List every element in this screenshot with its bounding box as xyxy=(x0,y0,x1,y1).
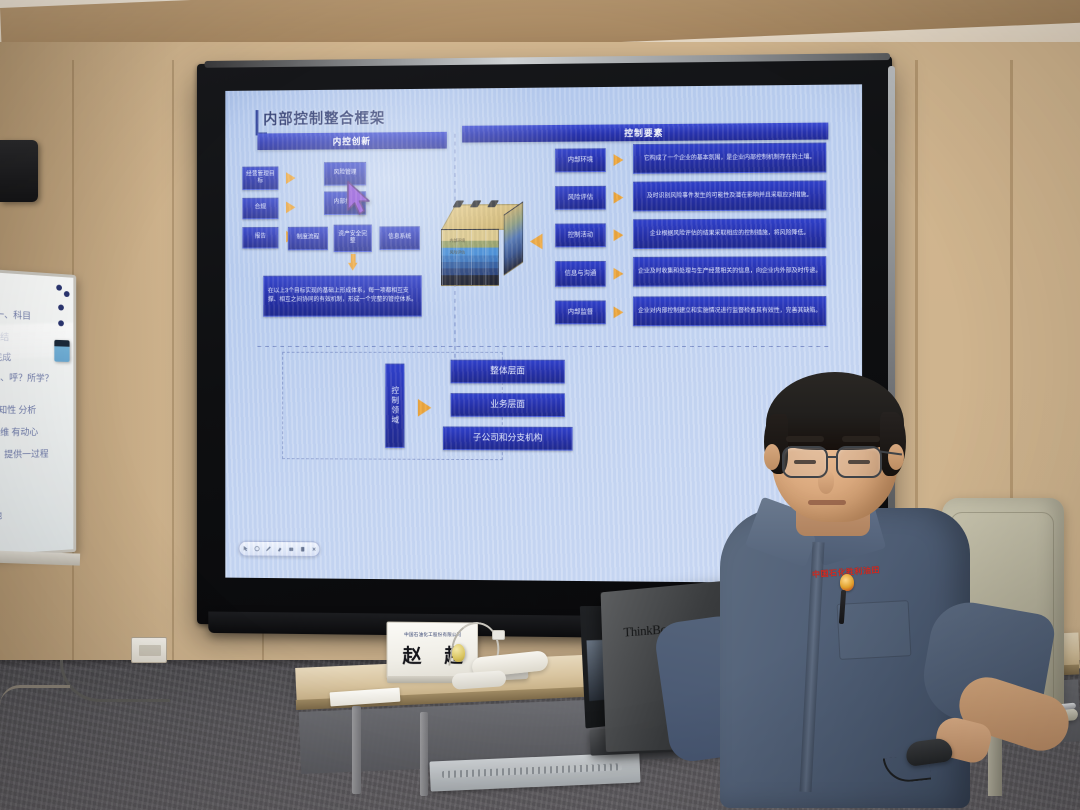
whiteboard-magnet xyxy=(58,304,64,310)
element-description: 企业根据风险评估的结果采取相应的控制措施，将风险降低。 xyxy=(633,218,826,249)
uniform-pocket xyxy=(837,600,912,660)
domain-box: 子公司和分支机构 xyxy=(443,426,573,450)
cube-layer-label: 内部环境 xyxy=(450,238,465,244)
shape-icon[interactable] xyxy=(299,545,306,553)
mouse-cursor-icon xyxy=(346,180,373,215)
element-description: 企业及时收集和处理与生产经营相关的信息，向企业内外部及时传递。 xyxy=(633,256,826,286)
cable-slot xyxy=(442,763,622,778)
delete-icon[interactable] xyxy=(310,545,317,553)
whiteboard-eraser[interactable] xyxy=(54,340,69,362)
coso-cube: 内部环境 风险评估 xyxy=(441,204,522,287)
eraser-icon[interactable] xyxy=(287,545,294,553)
whiteboard: 一、科目 小结 完成 机、呼？所学？ 有知性 分析 力维 有动心 、提供一过程 … xyxy=(0,269,76,558)
whiteboard-line: 机、呼？所学？ xyxy=(0,370,53,384)
slide-title: 内部控制整合框架 xyxy=(263,107,385,129)
person-eyebrow xyxy=(786,436,824,442)
feature-box: 制度流程 xyxy=(288,227,328,251)
section-band-elements: 控制要素 xyxy=(462,123,828,143)
element-description: 企业对内部控制建立和实施情况进行监督检查其有效性，完善其缺陷。 xyxy=(633,296,826,326)
element-box: 风险评估 xyxy=(555,186,606,210)
whiteboard-magnet xyxy=(64,291,70,297)
domain-box: 业务层面 xyxy=(451,393,565,417)
goal-box: 合规 xyxy=(242,198,278,220)
arrow-right-icon xyxy=(418,399,431,417)
feature-box: 资产安全完整 xyxy=(334,225,372,253)
whiteboard-line: 、提供一过程 xyxy=(0,447,49,461)
arrow-right-icon xyxy=(614,306,624,318)
domain-box: 整体层面 xyxy=(451,360,565,384)
microphone-head xyxy=(452,644,465,662)
arrow-left-icon xyxy=(530,234,543,250)
person-eyebrow xyxy=(842,436,880,442)
whiteboard-line: 有知性 分析 xyxy=(0,403,36,416)
element-description: 它构成了一个企业的基本氛围，是企业内部控制机制存在的土壤。 xyxy=(633,143,826,174)
element-description: 及时识别风险事件发生的可能性及潜在影响并且采取应对措施。 xyxy=(633,180,826,211)
arrow-right-icon xyxy=(614,229,624,241)
person-nose xyxy=(818,470,834,494)
wall-seam xyxy=(172,60,174,760)
element-box: 控制活动 xyxy=(555,223,606,247)
pan-icon[interactable] xyxy=(253,545,260,553)
whiteboard-magnet xyxy=(58,320,64,326)
person-mouth xyxy=(808,500,846,505)
feature-box: 信息系统 xyxy=(380,226,420,250)
cube-layer-label: 风险评估 xyxy=(450,250,465,256)
person-ear xyxy=(764,444,780,470)
left-panel-note: 在以上3个目标实现的基础上形成体系，每一项都相互支撑、相互之间协同的有效机制，形… xyxy=(263,275,422,316)
power-cable-secondary xyxy=(0,685,70,705)
pointer-icon[interactable] xyxy=(242,545,249,553)
arrow-right-icon xyxy=(286,201,296,213)
eyeglasses-right-lens xyxy=(836,446,882,478)
element-box: 信息与沟通 xyxy=(555,261,606,287)
panel-divider-horizontal xyxy=(258,346,831,347)
arrow-right-icon xyxy=(614,268,624,280)
whiteboard-line: 一、科目 xyxy=(0,307,31,322)
wall-speaker xyxy=(0,140,38,202)
arrow-right-icon xyxy=(286,172,296,184)
arrow-right-icon xyxy=(614,192,624,204)
cube-side-face xyxy=(504,201,523,275)
whiteboard-magnet xyxy=(56,285,62,291)
section-band-innovation: 内控创新 xyxy=(258,132,447,150)
seated-person: 中国石化胜利油田 xyxy=(690,370,1020,810)
desk-leg xyxy=(352,706,361,794)
goal-box: 经营管理目标 xyxy=(242,166,278,190)
person-ear xyxy=(888,444,904,470)
goal-box: 报告 xyxy=(242,227,278,249)
highlighter-icon[interactable] xyxy=(276,545,283,553)
arrow-right-icon xyxy=(614,154,624,166)
desk-leg xyxy=(420,712,428,796)
nameplate-org: 中国石油化工股份有限公司 xyxy=(404,632,461,638)
cube-front-face: 内部环境 风险评估 xyxy=(441,229,499,286)
element-box: 内部环境 xyxy=(555,148,606,172)
pen-icon[interactable] xyxy=(265,545,272,553)
annotation-toolbar[interactable] xyxy=(239,541,321,557)
control-domain-label: 控制领域 xyxy=(385,364,404,448)
element-box: 内部监督 xyxy=(555,301,606,325)
whiteboard-line: 池 xyxy=(0,508,2,522)
uniform-badge-pin xyxy=(840,574,854,591)
microphone-clip xyxy=(492,630,505,640)
meeting-room-scene: 一、科目 小结 完成 机、呼？所学？ 有知性 分析 力维 有动心 、提供一过程 … xyxy=(0,0,1080,810)
eyeglasses-bridge xyxy=(828,456,838,458)
whiteboard-line: 力维 有动心 xyxy=(0,425,38,439)
arrow-down-icon xyxy=(348,263,358,271)
